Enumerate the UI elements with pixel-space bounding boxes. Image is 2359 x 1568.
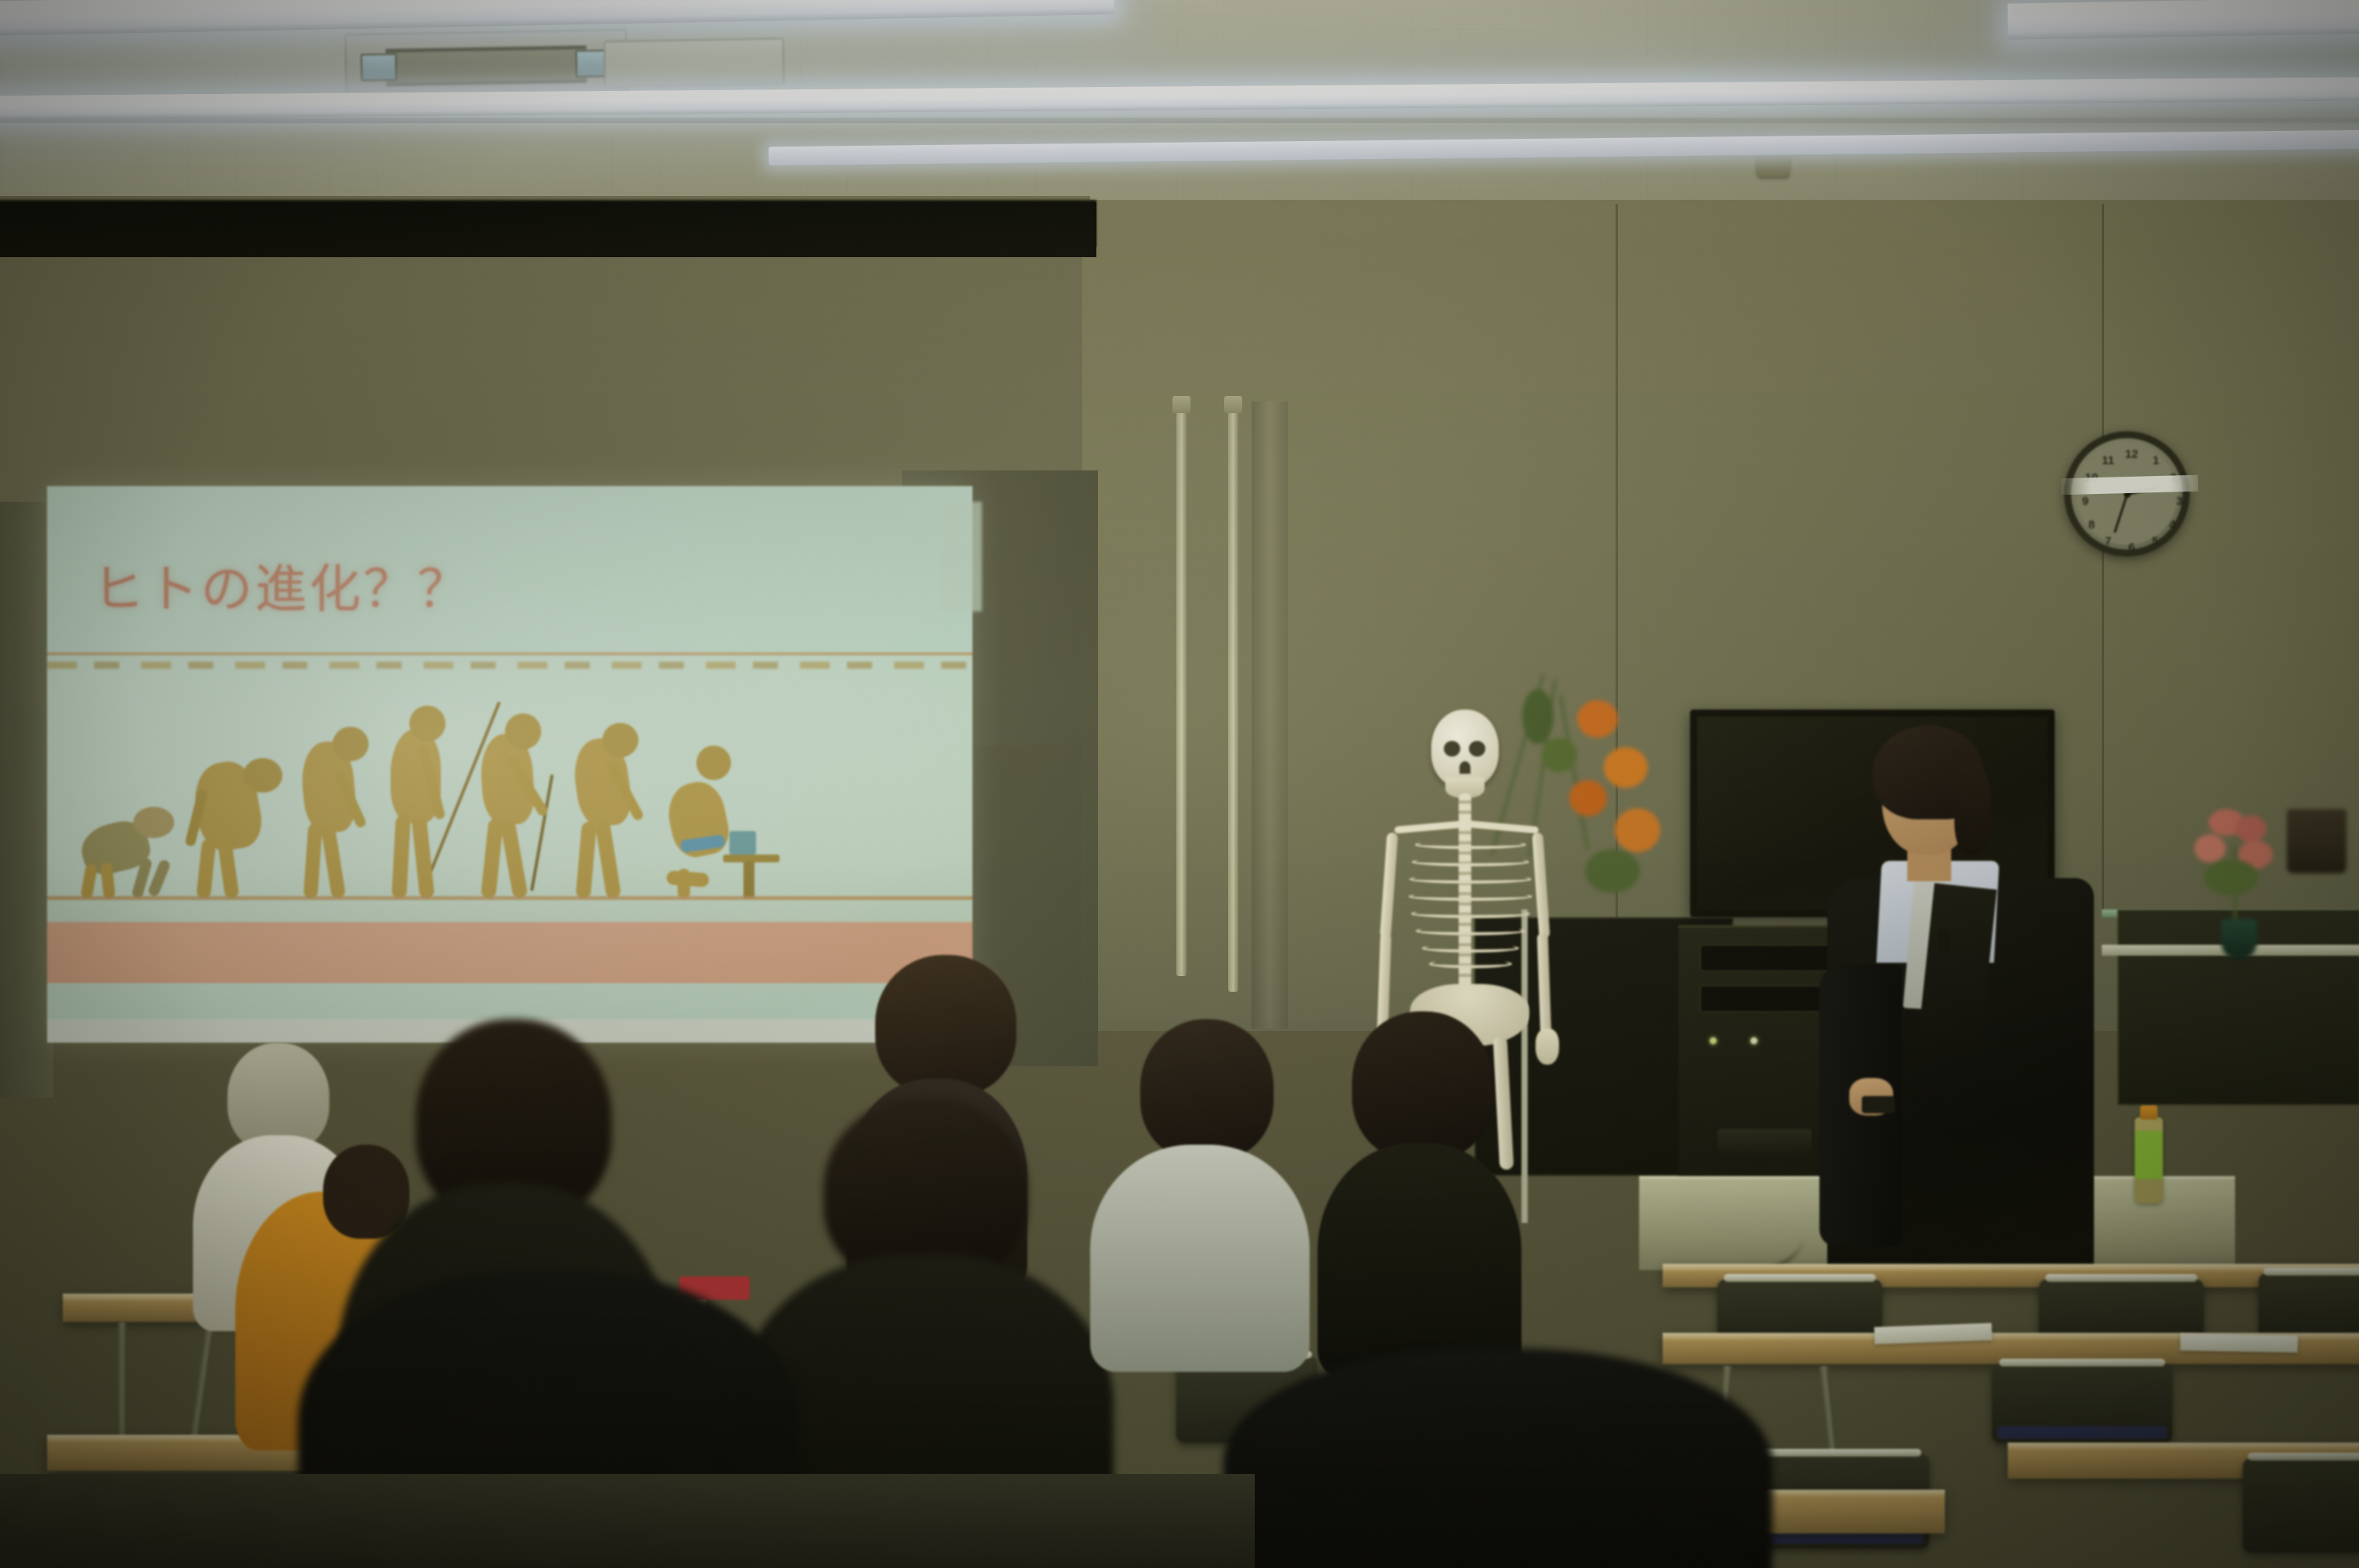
clock-numeral-12: 12 <box>2124 448 2139 461</box>
wall-column <box>1252 401 1288 1029</box>
flower-bloom <box>1604 747 1648 788</box>
clock-numeral-6: 6 <box>2124 541 2139 554</box>
slide-title: ヒトの進化？？ <box>93 547 471 622</box>
eye-socket-left <box>1444 741 1460 757</box>
clock-minute-hand <box>2114 494 2128 533</box>
chair-back-3 <box>2259 1273 2359 1341</box>
wall-pipe-2 <box>1228 396 1238 992</box>
flower-leaf <box>1585 849 1640 893</box>
table-edge <box>1663 1264 2359 1271</box>
fluorescent-strip-4 <box>2008 0 2359 40</box>
chair-backrest-highlight <box>1999 1359 2165 1367</box>
vase <box>2221 919 2257 960</box>
hand-bones-right <box>1536 1029 1559 1065</box>
chair-backrest-highlight <box>2248 1453 2359 1461</box>
monitor-icon <box>729 831 756 855</box>
slide-edge-highlight <box>941 502 982 612</box>
chair-seat-cushion <box>1997 1426 2167 1439</box>
projection-screen: ヒトの進化？？ <box>47 486 972 1043</box>
slide-footer-band <box>47 922 972 983</box>
audience-member-silhouette-right <box>1223 1333 1772 1568</box>
audience-member-white-top <box>1090 1019 1310 1348</box>
desk-leg-icon <box>743 861 754 898</box>
clock-numeral-5: 5 <box>2147 535 2163 548</box>
clock-numeral-7: 7 <box>2100 535 2116 548</box>
evolution-figure-7 <box>651 730 796 898</box>
flower-bloom <box>1615 808 1660 852</box>
desk-equipment <box>1717 1129 1812 1156</box>
rose-bloom <box>2235 815 2266 842</box>
clock-numeral-9: 9 <box>2077 495 2093 508</box>
screen-left-shadow <box>0 502 53 1098</box>
clock-numeral-11: 11 <box>2100 454 2116 467</box>
presentation-remote <box>1862 1096 1895 1113</box>
clock-numeral-4: 4 <box>2165 518 2180 532</box>
illustration-top-texture <box>47 662 972 669</box>
head <box>1140 1019 1274 1160</box>
wall-mounted-box <box>2287 809 2346 873</box>
lecture-hall-photo: ヒトの進化？？ <box>0 0 2359 1568</box>
handout-paper-2 <box>2180 1334 2298 1353</box>
pipe-cap <box>1172 396 1190 413</box>
presentation-slide: ヒトの進化？？ <box>47 486 972 1043</box>
chair-front-2 <box>2243 1458 2359 1552</box>
tea-bottle <box>2135 1117 2163 1203</box>
wall-seam-2 <box>2102 204 2104 909</box>
illustration-ground-line <box>47 896 972 900</box>
clock-numeral-8: 8 <box>2084 518 2099 532</box>
rose-bloom <box>2194 834 2226 862</box>
ceiling-ac-unit-2 <box>603 38 784 88</box>
skull <box>1431 710 1499 788</box>
ac-vent-left <box>360 53 397 82</box>
pipe-cap <box>1224 396 1242 413</box>
chair-backrest-highlight <box>2263 1268 2359 1276</box>
flower-leaf <box>1541 738 1577 772</box>
bottle-cap <box>2140 1105 2157 1120</box>
chair-mid-1 <box>1992 1364 2172 1443</box>
lapel-microphone <box>1939 930 1950 953</box>
head <box>1352 1011 1493 1160</box>
evolution-illustration <box>47 655 972 922</box>
wall-pipe-1 <box>1176 396 1187 976</box>
flower-leaf <box>1522 689 1554 744</box>
av-status-led <box>1750 1037 1757 1044</box>
evolution-figure-2 <box>180 746 290 898</box>
table-edge <box>2008 1443 2359 1450</box>
evolution-figure-5 <box>463 710 566 898</box>
torso <box>1223 1348 1772 1568</box>
nasal-cavity <box>1459 761 1470 774</box>
audience-member-dark-hair-right <box>1318 1011 1521 1341</box>
flower-bloom <box>1569 780 1607 816</box>
ac-grille <box>385 45 587 85</box>
rib-cage <box>1404 837 1537 982</box>
av-power-led <box>1710 1037 1717 1044</box>
slide-footer-band-2 <box>47 983 972 1019</box>
floor <box>0 1474 1255 1568</box>
clock-numeral-1: 1 <box>2148 454 2164 467</box>
flower-arrangement-pink <box>2190 808 2292 956</box>
flower-bloom <box>1577 700 1618 738</box>
chair-backrest-highlight <box>2045 1274 2197 1282</box>
eye-socket-right <box>1469 741 1485 757</box>
evolution-figure-3 <box>282 722 383 898</box>
screen-roller <box>0 202 1096 257</box>
head <box>875 955 1016 1096</box>
ceiling-bulkhead-edge <box>0 118 2359 123</box>
presenter-hair-side <box>1954 760 1992 855</box>
smoke-detector <box>1757 155 1790 177</box>
chair-backrest-highlight <box>1724 1274 1875 1282</box>
clock-numeral-3: 3 <box>2172 495 2187 508</box>
evolution-figure-4 <box>370 704 471 898</box>
evolution-figure-1 <box>64 800 182 898</box>
foliage <box>2204 859 2259 895</box>
evolution-figure-6 <box>557 717 660 898</box>
